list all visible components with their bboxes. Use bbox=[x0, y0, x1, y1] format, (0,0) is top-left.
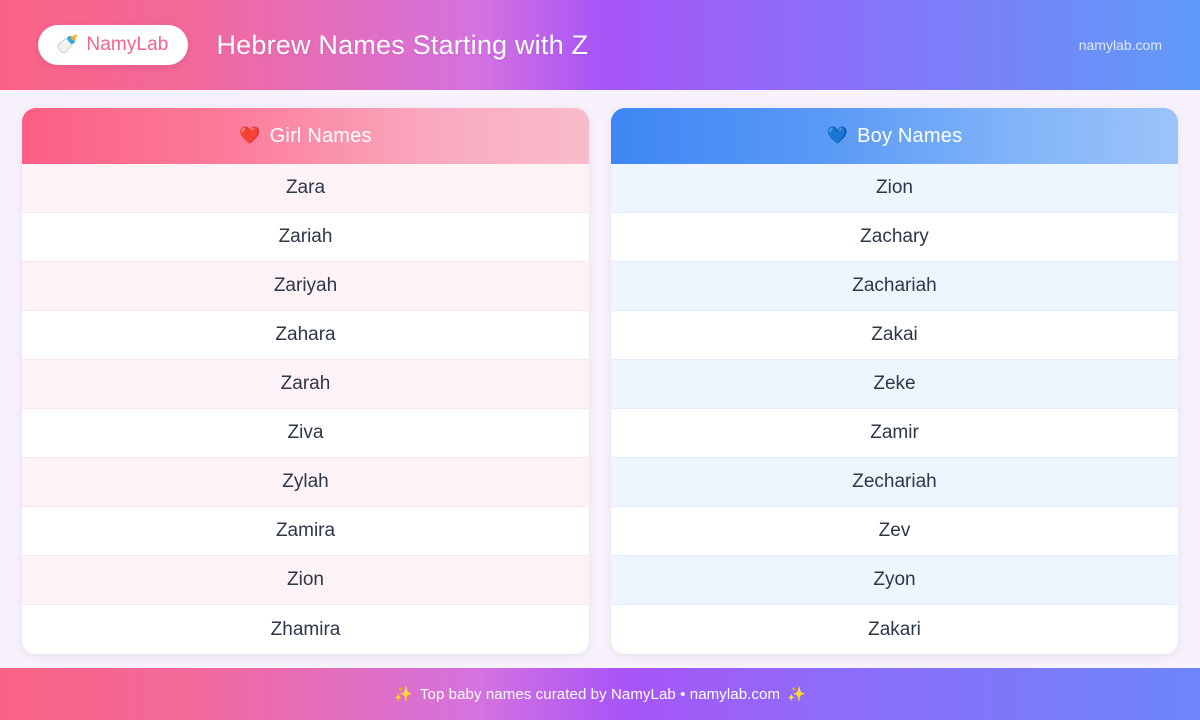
boy-names-card: 💙 Boy Names Zion Zachary Zachariah Zakai… bbox=[611, 108, 1178, 654]
girl-names-header: ❤️ Girl Names bbox=[22, 108, 589, 164]
brand-name: NamyLab bbox=[86, 34, 168, 56]
list-item[interactable]: Zion bbox=[611, 164, 1178, 213]
list-item[interactable]: Ziva bbox=[22, 409, 589, 458]
girl-names-card: ❤️ Girl Names Zara Zariah Zariyah Zahara… bbox=[22, 108, 589, 654]
page-title: Hebrew Names Starting with Z bbox=[216, 30, 588, 61]
boy-names-header: 💙 Boy Names bbox=[611, 108, 1178, 164]
boy-names-list: Zion Zachary Zachariah Zakai Zeke Zamir … bbox=[611, 164, 1178, 654]
page-root: 🍼 NamyLab Hebrew Names Starting with Z n… bbox=[0, 0, 1200, 720]
girl-names-list: Zara Zariah Zariyah Zahara Zarah Ziva Zy… bbox=[22, 164, 589, 654]
blue-heart-icon: 💙 bbox=[827, 128, 848, 145]
girl-names-title: Girl Names bbox=[270, 125, 372, 148]
list-item[interactable]: Zariah bbox=[22, 213, 589, 262]
list-item[interactable]: Zechariah bbox=[611, 458, 1178, 507]
list-item[interactable]: Zachary bbox=[611, 213, 1178, 262]
list-item[interactable]: Zarah bbox=[22, 360, 589, 409]
boy-names-title: Boy Names bbox=[857, 125, 962, 148]
footer-credit: Top baby names curated by NamyLab • namy… bbox=[420, 686, 780, 703]
brand-logo-badge[interactable]: 🍼 NamyLab bbox=[38, 25, 188, 65]
sparkles-icon: ✨ bbox=[394, 685, 413, 703]
list-item[interactable]: Zariyah bbox=[22, 262, 589, 311]
list-item[interactable]: Zeke bbox=[611, 360, 1178, 409]
list-item[interactable]: Zev bbox=[611, 507, 1178, 556]
sparkles-icon: ✨ bbox=[787, 685, 806, 703]
list-item[interactable]: Zhamira bbox=[22, 605, 589, 654]
list-item[interactable]: Zara bbox=[22, 164, 589, 213]
list-item[interactable]: Zion bbox=[22, 556, 589, 605]
list-item[interactable]: Zamir bbox=[611, 409, 1178, 458]
page-footer: ✨ Top baby names curated by NamyLab • na… bbox=[0, 668, 1200, 720]
red-heart-icon: ❤️ bbox=[239, 128, 260, 145]
list-item[interactable]: Zyon bbox=[611, 556, 1178, 605]
list-item[interactable]: Zamira bbox=[22, 507, 589, 556]
list-item[interactable]: Zakari bbox=[611, 605, 1178, 654]
list-item[interactable]: Zahara bbox=[22, 311, 589, 360]
names-columns: ❤️ Girl Names Zara Zariah Zariyah Zahara… bbox=[0, 90, 1200, 668]
site-url: namylab.com bbox=[1079, 37, 1176, 53]
list-item[interactable]: Zachariah bbox=[611, 262, 1178, 311]
list-item[interactable]: Zylah bbox=[22, 458, 589, 507]
page-header: 🍼 NamyLab Hebrew Names Starting with Z n… bbox=[0, 0, 1200, 90]
baby-bottle-icon: 🍼 bbox=[56, 36, 78, 54]
list-item[interactable]: Zakai bbox=[611, 311, 1178, 360]
